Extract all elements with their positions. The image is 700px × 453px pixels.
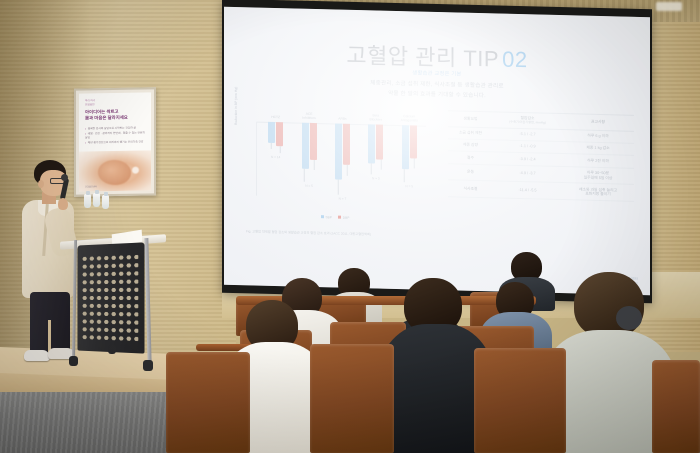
table-cell-recommendation: 채소와 과일 섭취 늘리고 포화지방 줄이기: [562, 183, 634, 202]
chart-error-bar: [314, 160, 315, 170]
microphone-head-icon: [61, 174, 68, 181]
slide-title-number: 02: [502, 47, 527, 73]
table-cell-lifestyle: 절주: [448, 151, 493, 164]
slide-title-text: 고혈압 관리 TIP: [346, 43, 499, 72]
lectern: [60, 214, 172, 374]
chart-error-bar: [347, 164, 348, 175]
chart-error-bar: [371, 163, 372, 174]
chart-n-label: N = 5: [405, 184, 413, 188]
chart-bar-sbp: [402, 125, 409, 170]
chart-error-bar: [271, 143, 272, 149]
table-header-bp-sub: (수축기/이완기혈압, mmHg): [494, 120, 561, 125]
chart-category-label: Calcium Antagonists: [391, 114, 427, 123]
chart-bar-dbp: [410, 125, 417, 158]
chart-error-bar: [414, 159, 415, 168]
chart-bar-dbp: [343, 124, 350, 165]
legend-swatch-dbp: [338, 216, 341, 219]
poster-headline: 아이디어는 싹트고 몸과 마음은 달라지세요: [85, 108, 146, 122]
table-cell-recommendation: 하루 30~50분 일주일에 5일 이상: [562, 166, 634, 185]
chart-y-axis-label: Reduction in BP (mm Hg): [234, 55, 238, 125]
chart-group: Beta BlockersN = 3: [361, 124, 391, 164]
chair-front-left: [166, 352, 250, 453]
bottle-cap: [86, 191, 90, 195]
poster-eyebrow: 우리 아기 건강검진: [85, 99, 95, 106]
water-bottle-1: [84, 194, 91, 208]
legend-item-dbp: DBP: [338, 216, 349, 220]
chart-group: HCTZN = 14: [261, 122, 291, 147]
lectern-foot-middle: [108, 345, 116, 354]
chart-error-bar: [280, 146, 281, 153]
chart-legend: SBP DBP: [240, 213, 430, 222]
water-bottle-3: [102, 195, 109, 209]
chart-group: ARBsN = 7: [327, 123, 357, 179]
audience-person-front-2: [388, 278, 484, 453]
chair-front-2: [474, 348, 566, 453]
table-row: 식사조절-11.4 / -5.5채소와 과일 섭취 늘리고 포화지방 줄이기: [448, 180, 634, 201]
table-body: 소금 섭취 제한-5.1 / -2.7하루 6 g 이하체중 감량-1.1 / …: [448, 126, 634, 201]
poster-photo-highlight: [132, 167, 139, 174]
chart-group: Calcium AntagonistsN = 5: [394, 125, 424, 170]
lecture-hall-scene: 고혈압 관리 TIP02 생활습관 교정은 기본 체중관리, 소금 섭취 제한,…: [0, 0, 700, 453]
poster-body-line3: 매년 정기검진으로 미리미리 챙기는 우리가족 건강: [85, 141, 146, 147]
speaker-hand: [58, 198, 68, 210]
chart-n-label: N = 3: [372, 176, 380, 180]
lifestyle-bp-table: 생활요법 혈압감소 (수축기/이완기혈압, mmHg) 권고사항 소금 섭취 제…: [448, 110, 634, 202]
poster-photo-hands: [98, 160, 131, 185]
chart-bar-sbp: [368, 124, 375, 163]
table-cell-bp: -11.4 / -5.5: [493, 181, 562, 200]
bottle-cap: [95, 190, 99, 194]
figure-caption: Fig. 고혈압 약제별 혈압 감소와 생활습관 교정의 혈압 감소 효과 (J…: [246, 229, 546, 240]
chart-category-label: ACE Inhibitors: [291, 111, 327, 120]
table-cell-lifestyle: 소금 섭취 제한: [448, 126, 493, 139]
chair-front-right: [652, 360, 700, 453]
legend-label-sbp: SBP: [326, 215, 332, 219]
poster-headline-line2: 몸과 마음은 달라지세요: [85, 115, 146, 122]
chart-error-bar: [404, 170, 405, 182]
chart-bar-dbp: [376, 125, 383, 160]
speaker-shoe-left: [24, 350, 50, 361]
chart-error-bar: [380, 160, 381, 170]
table-header-lifestyle: 생활요법: [448, 111, 493, 128]
legend-item-sbp: SBP: [321, 215, 332, 219]
chart-category-label: HCTZ: [258, 115, 294, 120]
ceiling-light: [656, 2, 682, 11]
table-header-bp-reduction: 혈압감소 (수축기/이완기혈압, mmHg): [493, 112, 562, 129]
projection-screen: 고혈압 관리 TIP02 생활습관 교정은 기본 체중관리, 소금 섭취 제한,…: [224, 7, 650, 295]
chart-category-label: Beta Blockers: [358, 113, 394, 122]
chart-error-bar: [337, 179, 338, 195]
bottle-cap: [104, 192, 108, 196]
chart-n-label: N = 14: [271, 155, 280, 159]
chart-category-label: ARBs: [324, 116, 360, 121]
bp-reduction-bar-chart: Reduction in BP (mm Hg) HCTZN = 14ACE In…: [240, 105, 430, 222]
legend-swatch-sbp: [321, 215, 324, 218]
speaker-ear: [38, 180, 44, 188]
chart-n-label: N = 7: [339, 197, 347, 201]
water-bottle-2: [93, 193, 100, 207]
table-cell-lifestyle: 운동: [448, 163, 493, 181]
chart-error-bar: [304, 169, 305, 182]
table-cell-lifestyle: 식사조절: [448, 180, 493, 198]
legend-label-dbp: DBP: [343, 216, 350, 220]
lectern-caster-left: [69, 356, 78, 366]
chart-plot-area: HCTZN = 14ACE InhibitorsN = 5ARBsN = 7Be…: [256, 122, 426, 200]
presentation-slide: 고혈압 관리 TIP02 생활습관 교정은 기본 체중관리, 소금 섭취 제한,…: [224, 7, 650, 295]
hair-tie-icon: [616, 306, 642, 330]
lectern-leg-right: [144, 238, 151, 364]
chart-bar-sbp: [268, 122, 275, 144]
lectern-caster-right: [143, 360, 153, 371]
chart-bar-dbp: [276, 122, 283, 146]
table-header-recommendation: 권고사항: [562, 114, 634, 131]
chart-bar-sbp: [335, 124, 342, 180]
chart-bar-groups: HCTZN = 14ACE InhibitorsN = 5ARBsN = 7Be…: [259, 122, 426, 200]
lectern-perforation: [81, 253, 138, 343]
table-cell-bp: -4.9 / -3.7: [493, 164, 562, 183]
chart-group: ACE InhibitorsN = 5: [294, 123, 324, 170]
chart-bar-sbp: [302, 123, 309, 169]
lectern-leg-left: [72, 240, 77, 360]
poster-body: 정확한 검사와 상담으로 시작하는 건강한 삶 예방 · 검진 · 관리까지 한…: [85, 126, 146, 146]
chart-n-label: N = 5: [305, 184, 313, 188]
chart-bar-dbp: [310, 123, 317, 160]
table: 생활요법 혈압감소 (수축기/이완기혈압, mmHg) 권고사항 소금 섭취 제…: [448, 110, 634, 202]
chair-front-1: [310, 344, 394, 453]
audience-person-front-3: [556, 272, 666, 453]
poster-eyebrow-line2: 건강검진: [85, 103, 95, 107]
table-cell-lifestyle: 체중 감량: [448, 139, 493, 152]
